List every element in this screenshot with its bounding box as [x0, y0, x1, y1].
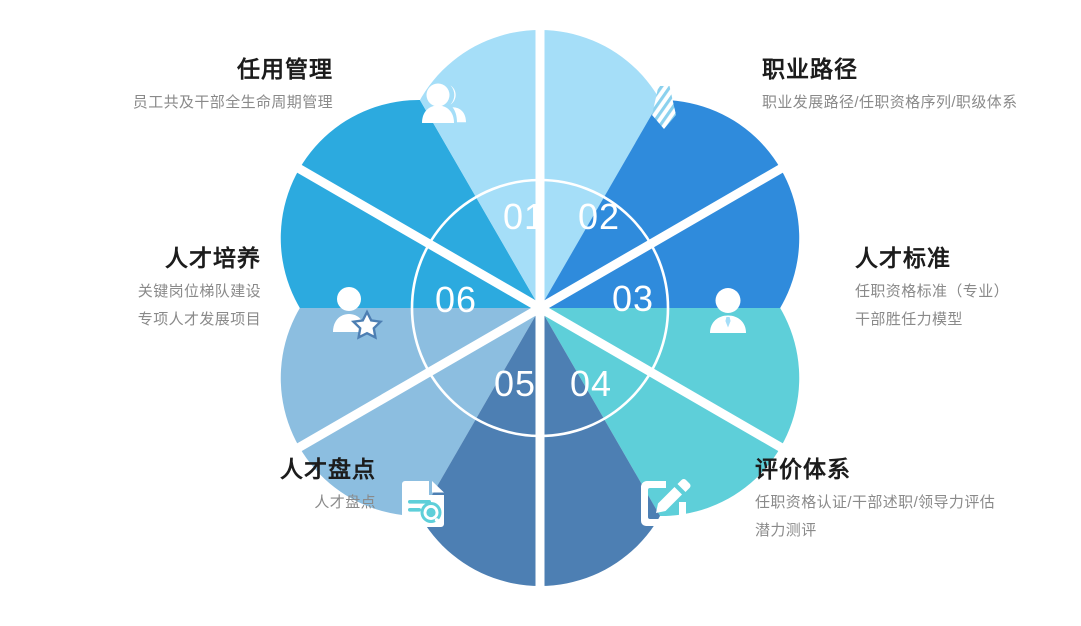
label-title-04: 评价体系 [755, 458, 995, 481]
petal-number-05: 05 [494, 363, 536, 404]
petal-number-02: 02 [578, 196, 620, 237]
label-title-06: 人才培养 [138, 247, 261, 270]
petal-number-01: 01 [503, 196, 545, 237]
label-line-06-1: 关键岗位梯队建设 [138, 284, 261, 299]
label-line-04-2: 潜力测评 [755, 523, 995, 538]
label-title-05: 人才盘点 [280, 458, 376, 481]
label-title-03: 人才标准 [855, 247, 1009, 270]
label-line-06-2: 专项人才发展项目 [138, 312, 261, 327]
label-line-05-1: 人才盘点 [280, 495, 376, 510]
petal-svg: 01 02 03 04 05 06 [245, 13, 835, 603]
label-block-04: 评价体系 任职资格认证/干部述职/领导力评估 潜力测评 [755, 458, 995, 538]
label-block-03: 人才标准 任职资格标准（专业） 干部胜任力模型 [855, 247, 1009, 327]
petal-number-03: 03 [612, 278, 654, 319]
label-block-06: 人才培养 关键岗位梯队建设 专项人才发展项目 [138, 247, 261, 327]
label-line-01-1: 员工共及干部全生命周期管理 [133, 95, 333, 110]
label-block-01: 任用管理 员工共及干部全生命周期管理 [133, 58, 333, 110]
label-line-03-1: 任职资格标准（专业） [855, 284, 1009, 299]
label-line-02-1: 职业发展路径/任职资格序列/职级体系 [762, 95, 1018, 110]
label-line-03-2: 干部胜任力模型 [855, 312, 1009, 327]
petal-number-06: 06 [435, 279, 477, 320]
infographic-canvas: 01 02 03 04 05 06 [0, 0, 1081, 626]
label-block-05: 人才盘点 人才盘点 [280, 458, 376, 510]
label-title-01: 任用管理 [133, 58, 333, 81]
label-title-02: 职业路径 [762, 58, 1018, 81]
label-line-04-1: 任职资格认证/干部述职/领导力评估 [755, 495, 995, 510]
document-search-icon [402, 481, 444, 527]
label-block-02: 职业路径 职业发展路径/任职资格序列/职级体系 [762, 58, 1018, 110]
six-petal-diagram: 01 02 03 04 05 06 [245, 13, 835, 603]
petal-number-04: 04 [570, 363, 612, 404]
